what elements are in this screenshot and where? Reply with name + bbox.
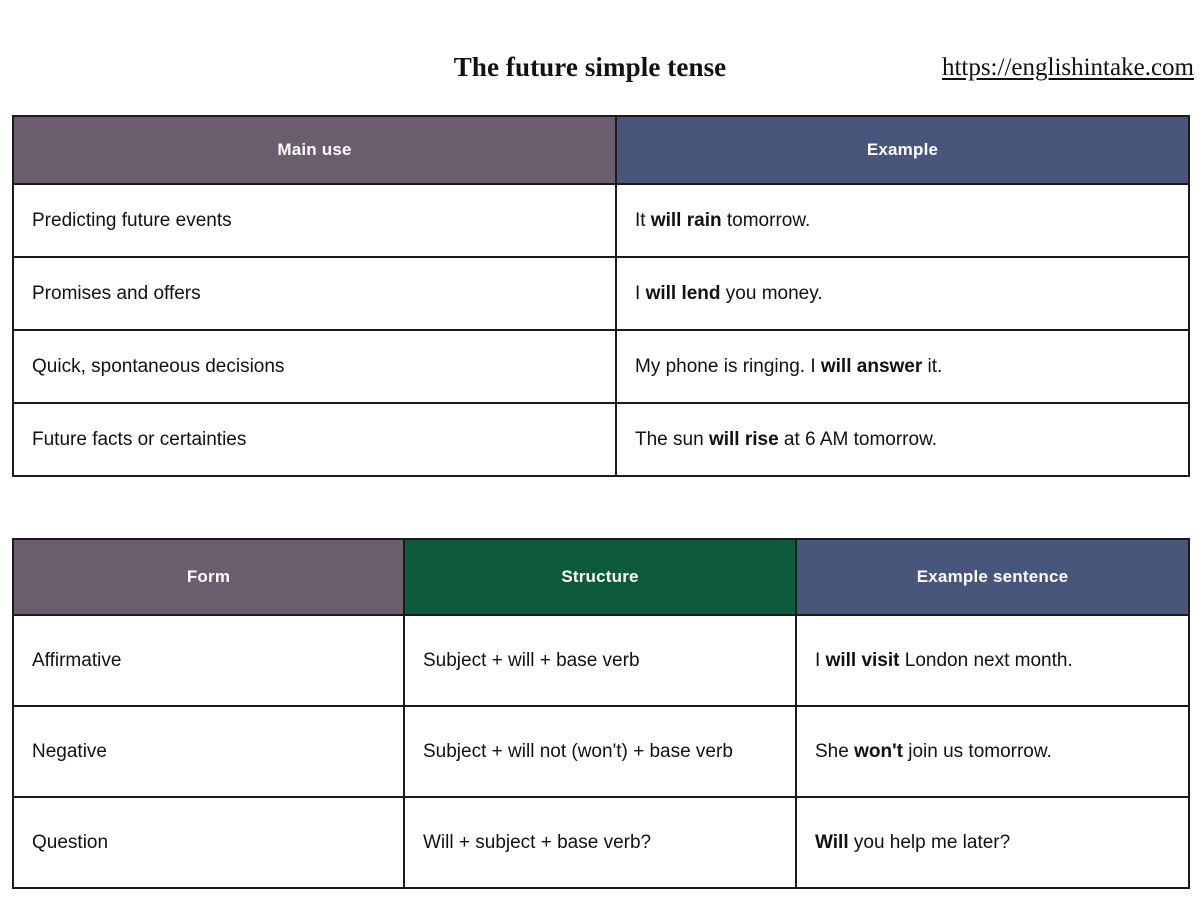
example-text-bold: will answer — [821, 356, 922, 377]
table-row: Affirmative Subject + will + base verb I… — [13, 615, 1189, 706]
cell-structure: Subject + will + base verb — [404, 615, 796, 706]
sentence-text-post: you help me later? — [849, 832, 1011, 853]
table-forms-header: Form Structure Example sentence — [13, 539, 1189, 615]
table-row: Quick, spontaneous decisions My phone is… — [13, 330, 1189, 403]
table-forms-body: Affirmative Subject + will + base verb I… — [13, 615, 1189, 888]
column-header-main-use: Main use — [13, 116, 616, 184]
column-header-label: Structure — [405, 567, 795, 587]
column-header-label: Example sentence — [797, 567, 1188, 587]
cell-example-sentence: I will visit London next month. — [796, 615, 1189, 706]
table-main-use-body: Predicting future events It will rain to… — [13, 184, 1189, 476]
example-text-pre: I — [635, 283, 646, 304]
cell-example: My phone is ringing. I will answer it. — [616, 330, 1189, 403]
cell-example: It will rain tomorrow. — [616, 184, 1189, 257]
table-row: Negative Subject + will not (won't) + ba… — [13, 706, 1189, 797]
column-header-label: Main use — [14, 140, 615, 160]
site-url-link[interactable]: https://englishintake.com — [942, 54, 1194, 82]
cell-main-use: Quick, spontaneous decisions — [13, 330, 616, 403]
example-text-post: at 6 AM tomorrow. — [779, 429, 937, 450]
cell-example: The sun will rise at 6 AM tomorrow. — [616, 403, 1189, 476]
table-forms: Form Structure Example sentence Affirmat… — [12, 538, 1190, 889]
example-text-post: tomorrow. — [722, 210, 811, 231]
sentence-text-post: London next month. — [899, 650, 1072, 671]
sentence-text-pre: She — [815, 741, 854, 762]
cell-structure: Will + subject + base verb? — [404, 797, 796, 888]
table-row: Predicting future events It will rain to… — [13, 184, 1189, 257]
table-row: Future facts or certainties The sun will… — [13, 403, 1189, 476]
cell-example-sentence: Will you help me later? — [796, 797, 1189, 888]
cell-example: I will lend you money. — [616, 257, 1189, 330]
cell-main-use: Future facts or certainties — [13, 403, 616, 476]
table-header-row: Form Structure Example sentence — [13, 539, 1189, 615]
column-header-example: Example — [616, 116, 1189, 184]
page-header: The future simple tense https://englishi… — [0, 52, 1200, 98]
example-text-pre: The sun — [635, 429, 709, 450]
example-text-post: you money. — [721, 283, 823, 304]
table-row: Promises and offers I will lend you mone… — [13, 257, 1189, 330]
sentence-text-bold: Will — [815, 832, 849, 853]
column-header-label: Form — [14, 567, 403, 587]
sentence-text-post: join us tomorrow. — [903, 741, 1052, 762]
cell-main-use: Predicting future events — [13, 184, 616, 257]
example-text-bold: will lend — [646, 283, 721, 304]
table-header-row: Main use Example — [13, 116, 1189, 184]
sentence-text-bold: won't — [854, 741, 903, 762]
cell-structure: Subject + will not (won't) + base verb — [404, 706, 796, 797]
example-text-post: it. — [922, 356, 942, 377]
table-main-use-header: Main use Example — [13, 116, 1189, 184]
cell-example-sentence: She won't join us tomorrow. — [796, 706, 1189, 797]
cell-form: Question — [13, 797, 404, 888]
sentence-text-pre: I — [815, 650, 826, 671]
column-header-example-sentence: Example sentence — [796, 539, 1189, 615]
example-text-pre: It — [635, 210, 651, 231]
table-row: Question Will + subject + base verb? Wil… — [13, 797, 1189, 888]
example-text-bold: will rain — [651, 210, 722, 231]
cell-main-use: Promises and offers — [13, 257, 616, 330]
column-header-structure: Structure — [404, 539, 796, 615]
example-text-bold: will rise — [709, 429, 779, 450]
cell-form: Affirmative — [13, 615, 404, 706]
cell-form: Negative — [13, 706, 404, 797]
table-main-use: Main use Example Predicting future event… — [12, 115, 1190, 477]
sentence-text-bold: will visit — [826, 650, 900, 671]
worksheet-page: The future simple tense https://englishi… — [0, 0, 1200, 900]
column-header-label: Example — [617, 140, 1188, 160]
example-text-pre: My phone is ringing. I — [635, 356, 821, 377]
column-header-form: Form — [13, 539, 404, 615]
